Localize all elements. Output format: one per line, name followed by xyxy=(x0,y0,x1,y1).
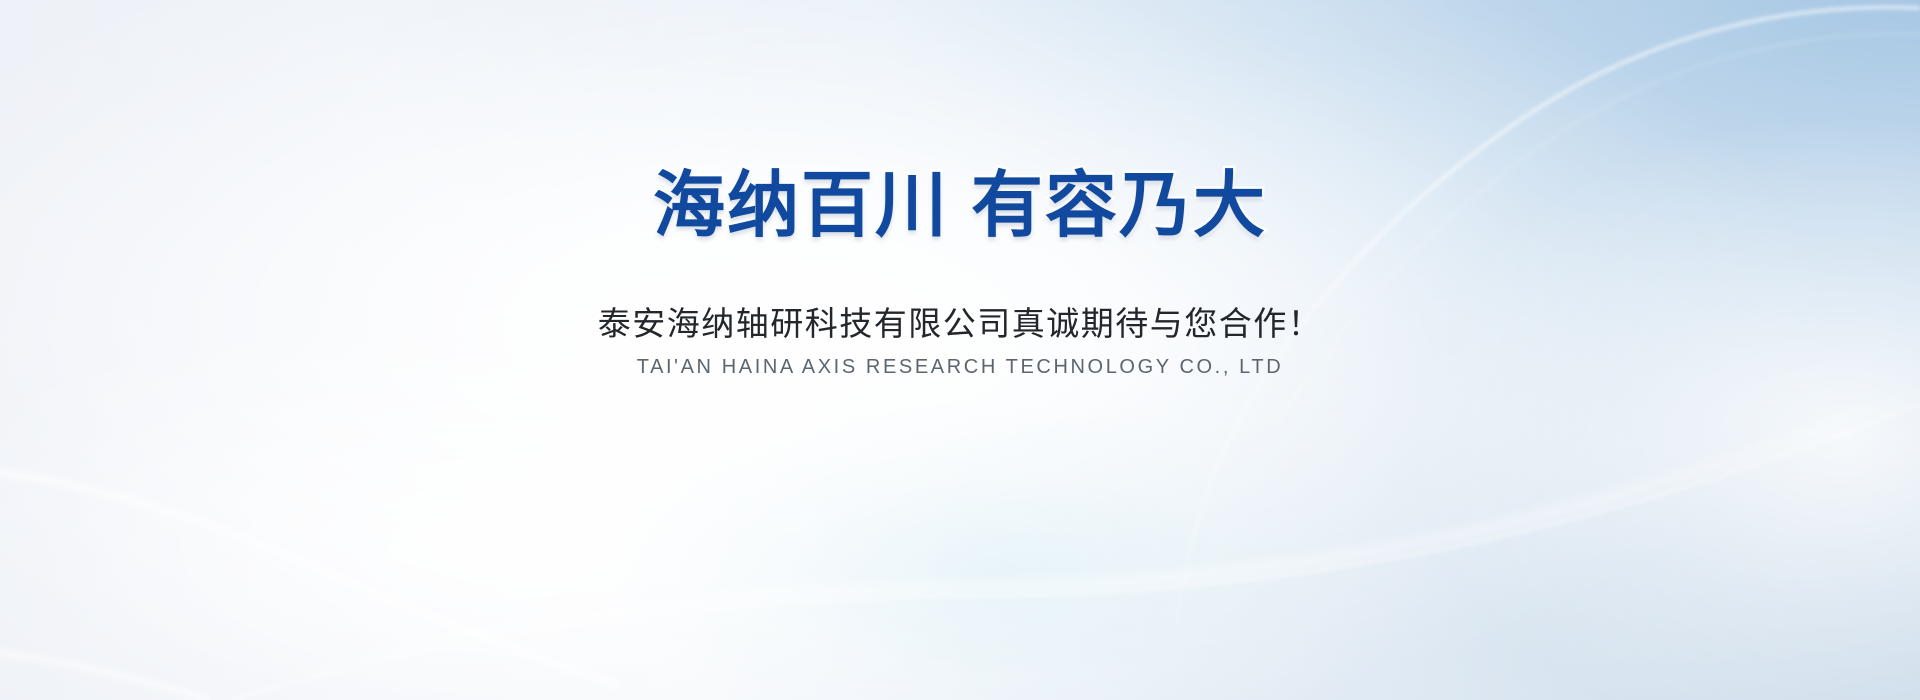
banner-subtitle-chinese: 泰安海纳轴研科技有限公司真诚期待与您合作！ xyxy=(598,303,1323,344)
banner-subtitle-group: 泰安海纳轴研科技有限公司真诚期待与您合作！ TAI'AN HAINA AXIS … xyxy=(598,303,1323,379)
banner-subtitle-english: TAI'AN HAINA AXIS RESEARCH TECHNOLOGY CO… xyxy=(598,355,1323,379)
banner-headline: 海纳百川 有容乃大 xyxy=(653,166,1267,247)
banner-content: 海纳百川 有容乃大 泰安海纳轴研科技有限公司真诚期待与您合作！ TAI'AN H… xyxy=(0,0,1920,700)
hero-banner: 海纳百川 有容乃大 泰安海纳轴研科技有限公司真诚期待与您合作！ TAI'AN H… xyxy=(0,0,1920,700)
